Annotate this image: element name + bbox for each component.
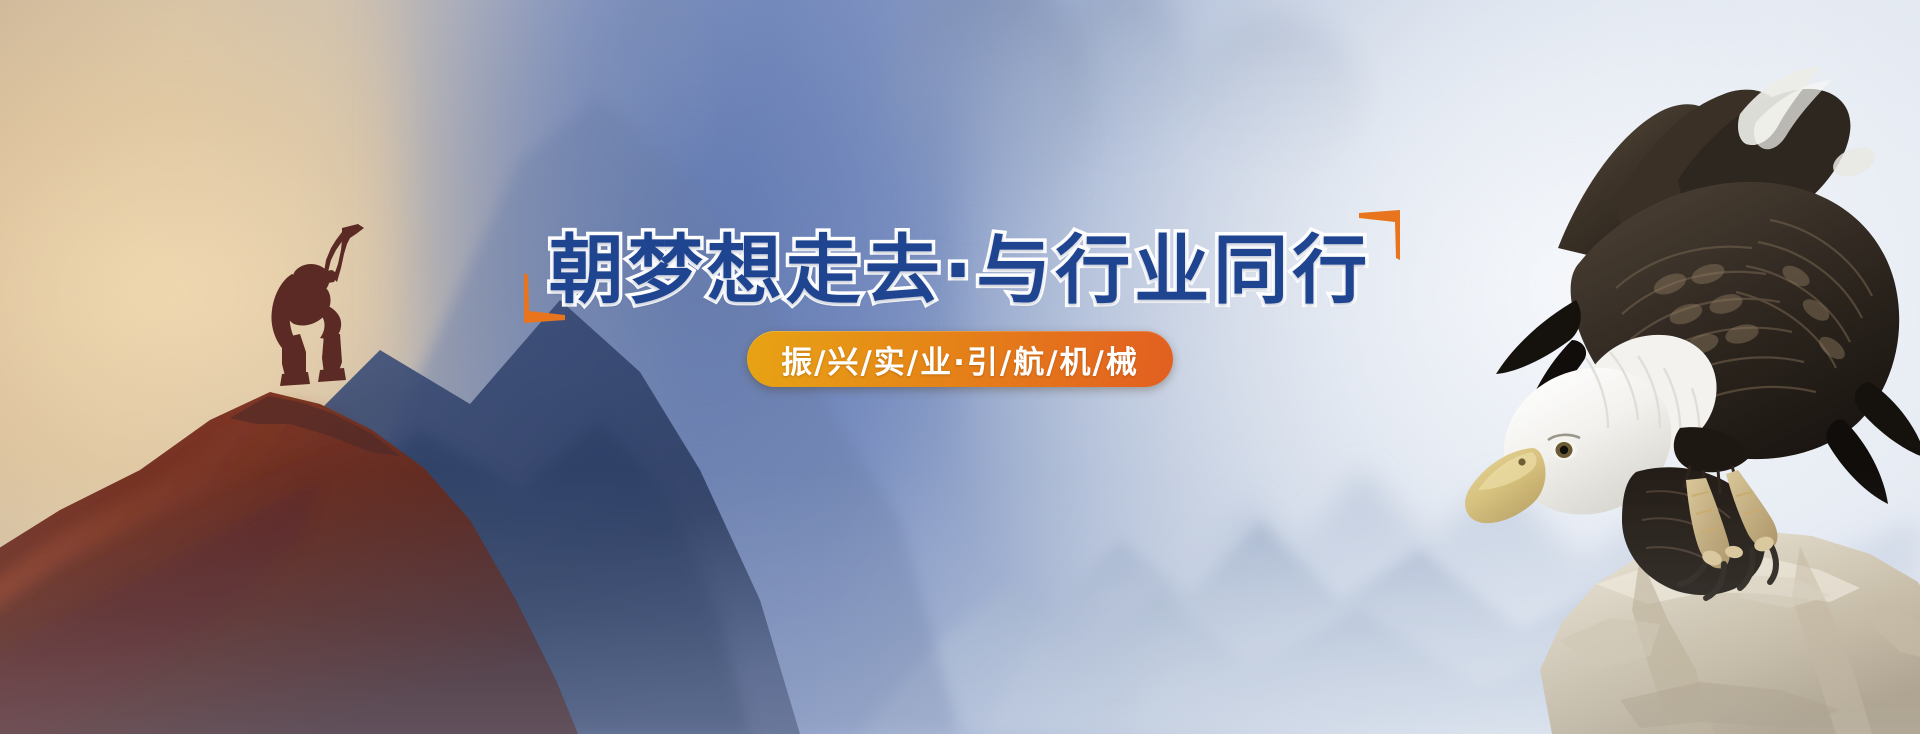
bald-eagle-icon xyxy=(1440,52,1920,612)
mountain-climber-silhouette-icon xyxy=(246,222,376,407)
hero-banner: 朝梦想走去·与行业同行 振/兴/实/业·引/航/机/械 xyxy=(0,0,1920,734)
